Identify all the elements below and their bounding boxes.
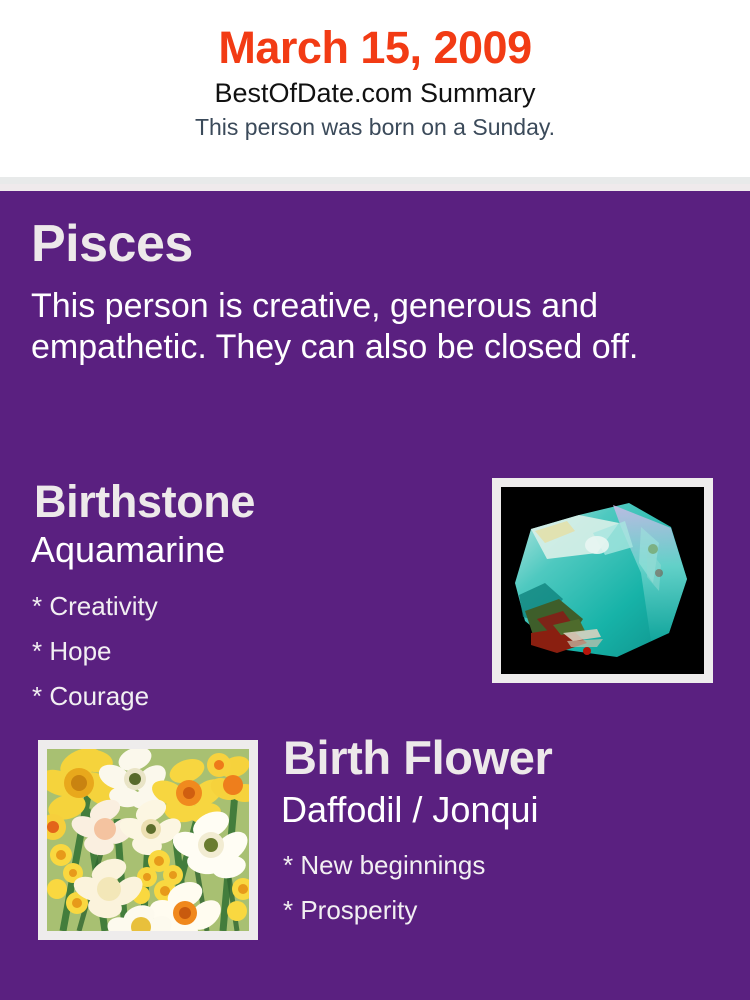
header: March 15, 2009 BestOfDate.com Summary Th…	[0, 0, 750, 177]
birth-flower-trait-list: * New beginnings * Prosperity	[283, 843, 485, 933]
divider-upper	[0, 177, 750, 184]
birthstone-heading: Birthstone	[34, 479, 255, 524]
zodiac-sign-name: Pisces	[31, 218, 193, 270]
birth-flower-image-frame	[38, 740, 258, 940]
divider-lower	[0, 184, 750, 191]
site-summary-label: BestOfDate.com Summary	[0, 71, 750, 109]
list-item: * Hope	[32, 629, 158, 674]
list-item: * Prosperity	[283, 888, 485, 933]
birthstone-name: Aquamarine	[31, 532, 225, 568]
aquamarine-crystal-photo	[501, 487, 704, 674]
birthstone-trait-list: * Creativity * Hope * Courage	[32, 584, 158, 719]
page-title-date: March 15, 2009	[0, 0, 750, 71]
born-day-note: This person was born on a Sunday.	[0, 109, 750, 140]
daffodil-field-photo	[47, 749, 249, 931]
list-item: * Courage	[32, 674, 158, 719]
summary-card: March 15, 2009 BestOfDate.com Summary Th…	[0, 0, 750, 1000]
list-item: * Creativity	[32, 584, 158, 629]
aquamarine-crystal-icon	[501, 487, 704, 674]
daffodil-flowers-icon	[47, 749, 249, 931]
birth-flower-name: Daffodil / Jonqui	[281, 792, 539, 828]
birthstone-image-frame	[492, 478, 713, 683]
list-item: * New beginnings	[283, 843, 485, 888]
birth-flower-heading: Birth Flower	[283, 734, 552, 781]
zodiac-description: This person is creative, generous and em…	[31, 286, 703, 368]
